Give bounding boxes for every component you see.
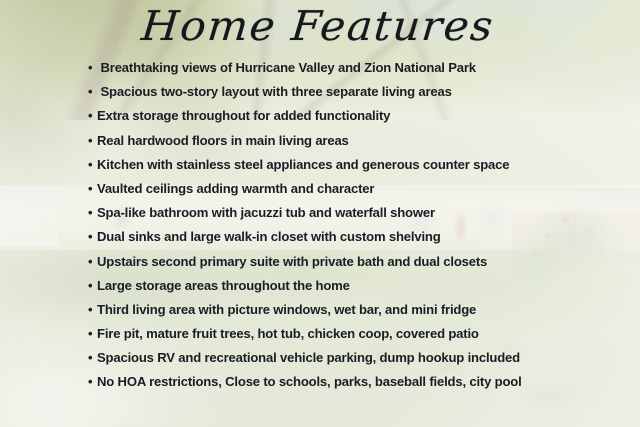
feature-list: •Breathtaking views of Hurricane Valley … [88,60,568,399]
home-features-poster: Home Features •Breathtaking views of Hur… [0,0,640,427]
list-item: •Large storage areas throughout the home [88,278,568,302]
bullet-icon: • [88,85,97,98]
bullet-icon: • [88,109,97,122]
feature-text: Dual sinks and large walk-in closet with… [97,229,441,244]
list-item: •Extra storage throughout for added func… [88,108,568,132]
list-item: •Real hardwood floors in main living are… [88,133,568,157]
list-item: •Kitchen with stainless steel appliances… [88,157,568,181]
feature-text: Extra storage throughout for added funct… [97,108,390,123]
feature-text: Spa-like bathroom with jacuzzi tub and w… [97,205,435,220]
bullet-icon: • [88,303,97,316]
list-item: •Third living area with picture windows,… [88,302,568,326]
bullet-icon: • [88,134,97,147]
feature-text: Large storage areas throughout the home [97,278,350,293]
bullet-icon: • [88,327,97,340]
bullet-icon: • [88,182,97,195]
list-item: •Dual sinks and large walk-in closet wit… [88,229,568,253]
bullet-icon: • [88,375,97,388]
poster-content: Home Features •Breathtaking views of Hur… [0,0,640,427]
list-item: •Spacious two-story layout with three se… [88,84,568,108]
bullet-icon: • [88,255,97,268]
feature-text: Third living area with picture windows, … [97,302,476,317]
feature-text: Spacious RV and recreational vehicle par… [97,350,520,365]
list-item: •Vaulted ceilings adding warmth and char… [88,181,568,205]
feature-text: Breathtaking views of Hurricane Valley a… [97,60,476,75]
bullet-icon: • [88,158,97,171]
list-item: •Spacious RV and recreational vehicle pa… [88,350,568,374]
bullet-icon: • [88,230,97,243]
bullet-icon: • [88,206,97,219]
feature-text: Real hardwood floors in main living area… [97,133,349,148]
bullet-icon: • [88,351,97,364]
feature-text: Upstairs second primary suite with priva… [97,254,487,269]
feature-text: Vaulted ceilings adding warmth and chara… [97,181,374,196]
feature-text: Kitchen with stainless steel appliances … [97,157,509,172]
list-item: •Breathtaking views of Hurricane Valley … [88,60,568,84]
page-title: Home Features [0,2,640,50]
feature-text: Spacious two-story layout with three sep… [97,84,452,99]
bullet-icon: • [88,61,97,74]
list-item: •Fire pit, mature fruit trees, hot tub, … [88,326,568,350]
list-item: •No HOA restrictions, Close to schools, … [88,374,568,398]
list-item: •Upstairs second primary suite with priv… [88,254,568,278]
bullet-icon: • [88,279,97,292]
feature-text: Fire pit, mature fruit trees, hot tub, c… [97,326,479,341]
list-item: •Spa-like bathroom with jacuzzi tub and … [88,205,568,229]
feature-text: No HOA restrictions, Close to schools, p… [97,374,522,389]
